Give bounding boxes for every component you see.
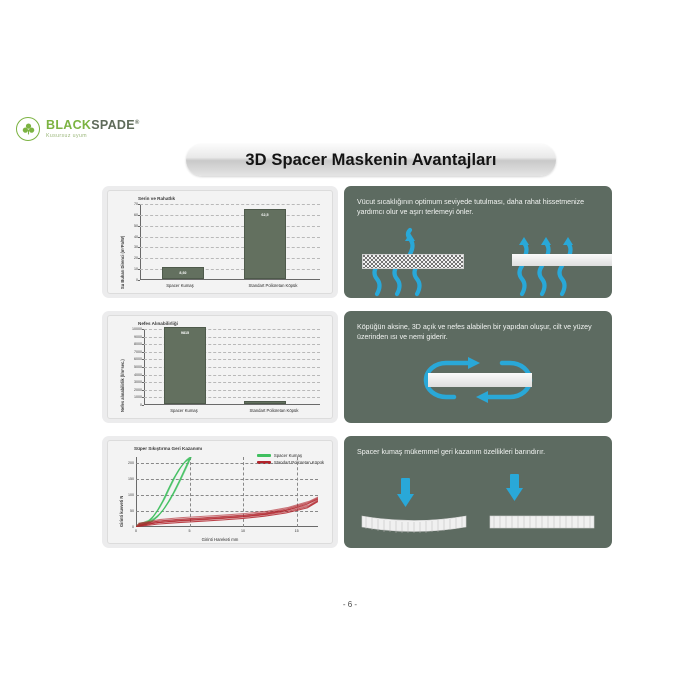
clover-spade-icon [16,117,40,141]
y-axis-tick-label: 50 [130,509,134,513]
chart-plot-area: 0102030405060708,9262,5 [140,204,320,280]
y-axis-tick [138,280,140,281]
chart-y-axis-label: Nefes alınabilirlik (l/m²sec.) [120,359,125,412]
illustration-airflow-mesh [344,224,612,298]
info-panel-cool-comfort: Vücut sıcaklığının optimum seviyede tutu… [344,186,612,298]
illustration-circulating-airflow [344,349,612,423]
y-axis-tick-label: 4000 [134,373,142,377]
y-axis-tick [142,337,144,338]
grid-line [140,258,320,259]
chart-category-label: Spacer Kumaş [140,283,220,288]
row-recovery: Süper Sıkıştırma Geri Kazanımı Girinti k… [102,436,612,548]
y-axis-tick [142,359,144,360]
y-axis-tick [142,375,144,376]
row-cool-comfort: Serin ve Rahatlık Su Buharı Direnci (m²P… [102,186,612,298]
y-axis-tick-label: 3000 [134,380,142,384]
brand-word-dark: SPADE [91,118,135,132]
chart-frame: Nefes Alınabilirliği Nefes alınabilirlik… [107,315,333,419]
grid-line [140,215,320,216]
y-axis-tick [138,237,140,238]
bar: 8,92 [162,267,204,279]
chart-category-label: Spacer Kumaş [144,408,224,413]
y-axis-tick [138,226,140,227]
info-panel-text: Spacer kumaş mükemmel geri kazanım özell… [357,447,600,457]
y-axis-tick [142,397,144,398]
info-panel-text: Vücut sıcaklığının optimum seviyede tutu… [357,197,600,218]
row-breathability: Nefes Alınabilirliği Nefes alınabilirlik… [102,311,612,423]
y-axis-tick [138,269,140,270]
page-canvas: BLACKSPADE® Kusursuz uyum 3D Spacer Mask… [0,0,700,700]
y-axis-tick-label: 2000 [134,388,142,392]
y-axis-tick-label: 9000 [134,335,142,339]
y-axis-tick [138,204,140,205]
brand-logo: BLACKSPADE® Kusursuz uyum [16,117,140,141]
info-panel-breathability: Köpüğün aksine, 3D açık ve nefes alabile… [344,311,612,423]
y-axis-tick [142,367,144,368]
bar [244,401,286,404]
bar-value-label: 8,92 [179,271,186,275]
mesh-fabric-strip [362,254,464,269]
bar: 62,5 [244,209,286,279]
y-axis-tick-label: 8000 [134,342,142,346]
illustration-compression-recovery [344,474,612,548]
x-axis-tick-label: 0 [135,529,137,533]
y-axis-tick [142,352,144,353]
chart-x-axis-label: Girinti Hareketi mm [108,537,332,542]
brand-tagline: Kusursuz uyum [46,134,140,139]
y-axis-tick-label: 6000 [134,357,142,361]
y-axis-tick [142,390,144,391]
y-axis-tick-label: 100 [128,493,134,497]
page-title: 3D Spacer Maskenin Avantajları [186,144,556,176]
info-panel-text: Köpüğün aksine, 3D açık ve nefes alabile… [357,322,600,343]
info-panel-recovery: Spacer kumaş mükemmel geri kazanım özell… [344,436,612,548]
y-axis-tick [142,382,144,383]
page-title-text: 3D Spacer Maskenin Avantajları [245,151,496,170]
y-axis-tick [142,344,144,345]
x-axis-tick-label: 15 [295,529,299,533]
chart-title: Süper Sıkıştırma Geri Kazanımı [134,446,202,451]
spacer-fabric-strip [428,373,532,387]
chart-y-axis-label: Girinti kuvveti N [119,496,124,527]
y-axis-tick [138,247,140,248]
y-axis-tick [138,215,140,216]
y-axis-tick [138,258,140,259]
x-axis-tick-label: 10 [241,529,245,533]
chart-plot-area: 050100150200051015 [136,457,318,527]
chart-card-serin-ve-rahatlik: Serin ve Rahatlık Su Buharı Direnci (m²P… [102,186,338,298]
trademark-symbol: ® [135,120,140,126]
y-axis-tick [142,329,144,330]
y-axis-tick-label: 200 [128,461,134,465]
x-axis-tick-label: 5 [189,529,191,533]
line-chart-series [136,457,318,527]
grid-line [140,247,320,248]
bar-value-label: 62,5 [261,213,268,217]
chart-title: Serin ve Rahatlık [138,196,175,201]
x-axis [144,404,320,405]
chart-y-axis-label: Su Buharı Direnci (m²Pa/W) [120,236,125,289]
chart-category-label: Standart Poliüretan Köpük [226,283,320,288]
chart-frame: Serin ve Rahatlık Su Buharı Direnci (m²P… [107,190,333,294]
y-axis-tick-label: 10000 [132,327,142,331]
page-number: - 6 - [0,600,700,609]
chart-card-super-sikistirma: Süper Sıkıştırma Geri Kazanımı Girinti k… [102,436,338,548]
x-axis [140,279,320,280]
y-axis-tick-label: 1000 [134,395,142,399]
chart-card-nefes-alinabilirligi: Nefes Alınabilirliği Nefes alınabilirlik… [102,311,338,423]
grid-line [140,237,320,238]
chart-category-label: Standart Poliüretan Köpük [228,408,320,413]
grid-line [140,204,320,205]
y-axis-tick-label: 5000 [134,365,142,369]
chart-title: Nefes Alınabilirliği [138,321,178,326]
y-axis-tick-label: 0 [132,525,134,529]
y-axis-tick-label: 150 [128,477,134,481]
brand-word-light: BLACK [46,118,91,132]
y-axis-tick [142,405,144,406]
grid-line [140,226,320,227]
bar: 9815 [164,327,206,404]
chart-frame: Süper Sıkıştırma Geri Kazanımı Girinti k… [107,440,333,544]
bar-value-label: 9815 [181,331,189,335]
y-axis-tick-label: 7000 [134,350,142,354]
chart-plot-area: 0100020003000400050006000700080009000100… [144,329,320,405]
solid-foam-strip [512,254,612,266]
